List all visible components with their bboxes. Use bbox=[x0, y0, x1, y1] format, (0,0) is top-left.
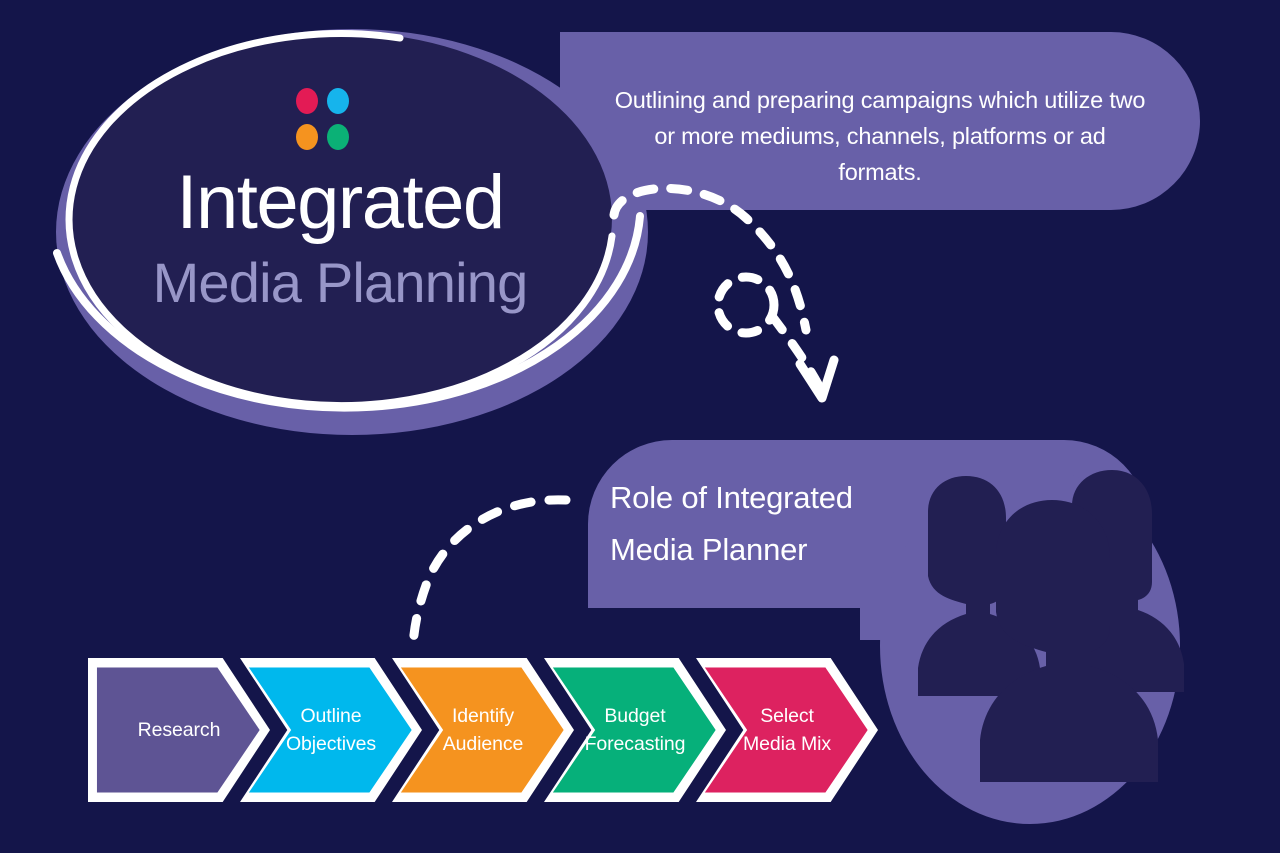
step-label-3-line1: Budget bbox=[604, 702, 665, 730]
step-label-3: Budget Forecasting bbox=[560, 658, 710, 802]
dot-crimson-icon bbox=[296, 88, 318, 114]
step-label-2-line1: Identify bbox=[452, 702, 514, 730]
four-dot-logo bbox=[296, 88, 352, 150]
dashed-loop-circle bbox=[718, 277, 774, 333]
page-title: Integrated Media Planning bbox=[60, 160, 620, 320]
role-panel-title: Role of Integrated Media Planner bbox=[610, 472, 1040, 576]
infographic-canvas: Integrated Media Planning Outlining and … bbox=[0, 0, 1280, 853]
step-label-2: Identify Audience bbox=[408, 658, 558, 802]
step-label-0-line1: Research bbox=[138, 716, 221, 744]
title-main: Integrated bbox=[60, 160, 620, 246]
role-panel-line2: Media Planner bbox=[610, 524, 1040, 576]
dashed-arrowhead bbox=[800, 360, 834, 398]
step-label-2-line2: Audience bbox=[443, 730, 524, 758]
title-sub: Media Planning bbox=[60, 246, 620, 320]
step-label-1-line2: Objectives bbox=[286, 730, 376, 758]
description-text: Outlining and preparing campaigns which … bbox=[610, 82, 1150, 190]
role-panel-line1: Role of Integrated bbox=[610, 472, 1040, 524]
step-label-1-line1: Outline bbox=[300, 702, 361, 730]
step-label-4-line1: Select bbox=[760, 702, 814, 730]
dot-cyan-icon bbox=[327, 88, 349, 114]
step-label-3-line2: Forecasting bbox=[585, 730, 686, 758]
dashed-curve-tail bbox=[772, 316, 818, 384]
dashed-curve-bottom bbox=[413, 500, 566, 646]
dot-orange-icon bbox=[296, 124, 318, 150]
step-label-4-line2: Media Mix bbox=[743, 730, 831, 758]
dot-green-icon bbox=[327, 124, 349, 150]
step-label-1: Outline Objectives bbox=[256, 658, 406, 802]
step-chevron-4[interactable]: Select Media Mix bbox=[696, 658, 878, 802]
step-label-0: Research bbox=[104, 658, 254, 802]
step-label-4: Select Media Mix bbox=[712, 658, 862, 802]
